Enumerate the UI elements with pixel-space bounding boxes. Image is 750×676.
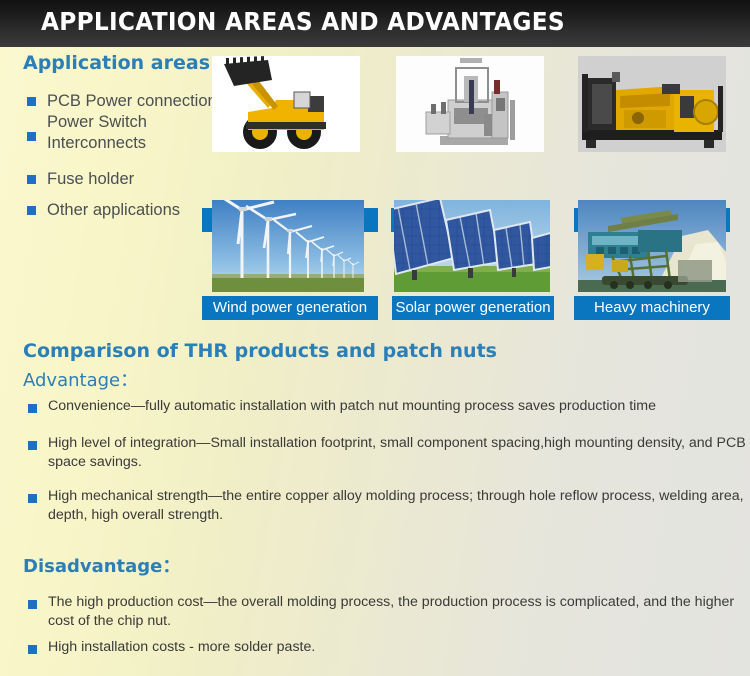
industrial-machine-photo xyxy=(396,56,544,152)
disadvantage-text: High installation costs - more solder pa… xyxy=(48,638,648,657)
square-bullet-icon xyxy=(28,600,37,609)
disadvantage-text: The high production cost—the overall mol… xyxy=(48,593,750,630)
list-item-label: PCB Power connection xyxy=(47,91,217,112)
advantage-text: High level of integration—Small installa… xyxy=(48,434,748,471)
square-bullet-icon xyxy=(28,404,37,413)
gallery-caption: Solar power generation xyxy=(392,296,554,320)
gallery-caption: Heavy machinery xyxy=(574,296,730,320)
advantage-text: High mechanical strength—the entire copp… xyxy=(48,487,750,524)
slide-root: APPLICATION AREAS AND ADVANTAGES Applica… xyxy=(0,0,750,676)
application-areas-heading: Application areas xyxy=(23,52,210,74)
list-item-label: Power Switch Interconnects xyxy=(47,112,187,154)
advantage-text: Convenience—fully automatic installation… xyxy=(48,397,750,416)
square-bullet-icon xyxy=(28,441,37,450)
solar-panels-photo xyxy=(394,200,550,292)
stacker-reclaimer-photo xyxy=(578,200,726,292)
page-title: APPLICATION AREAS AND ADVANTAGES xyxy=(41,7,565,36)
list-item-label: Other applications xyxy=(47,200,180,221)
header-bar: APPLICATION AREAS AND ADVANTAGES xyxy=(0,0,750,47)
gallery-caption: Wind power generation xyxy=(202,296,378,320)
advantage-heading: Advantage： xyxy=(23,366,138,392)
disadvantage-heading: Disadvantage： xyxy=(23,552,180,578)
square-bullet-icon xyxy=(27,97,36,106)
square-bullet-icon xyxy=(27,132,36,141)
comparison-title: Comparison of THR products and patch nut… xyxy=(23,340,497,362)
square-bullet-icon xyxy=(27,206,36,215)
square-bullet-icon xyxy=(28,645,37,654)
wheel-loader-photo xyxy=(212,56,360,152)
wind-turbines-photo xyxy=(212,200,364,292)
diesel-generator-photo xyxy=(578,56,726,152)
square-bullet-icon xyxy=(28,494,37,503)
list-item-label: Fuse holder xyxy=(47,169,134,190)
square-bullet-icon xyxy=(27,175,36,184)
